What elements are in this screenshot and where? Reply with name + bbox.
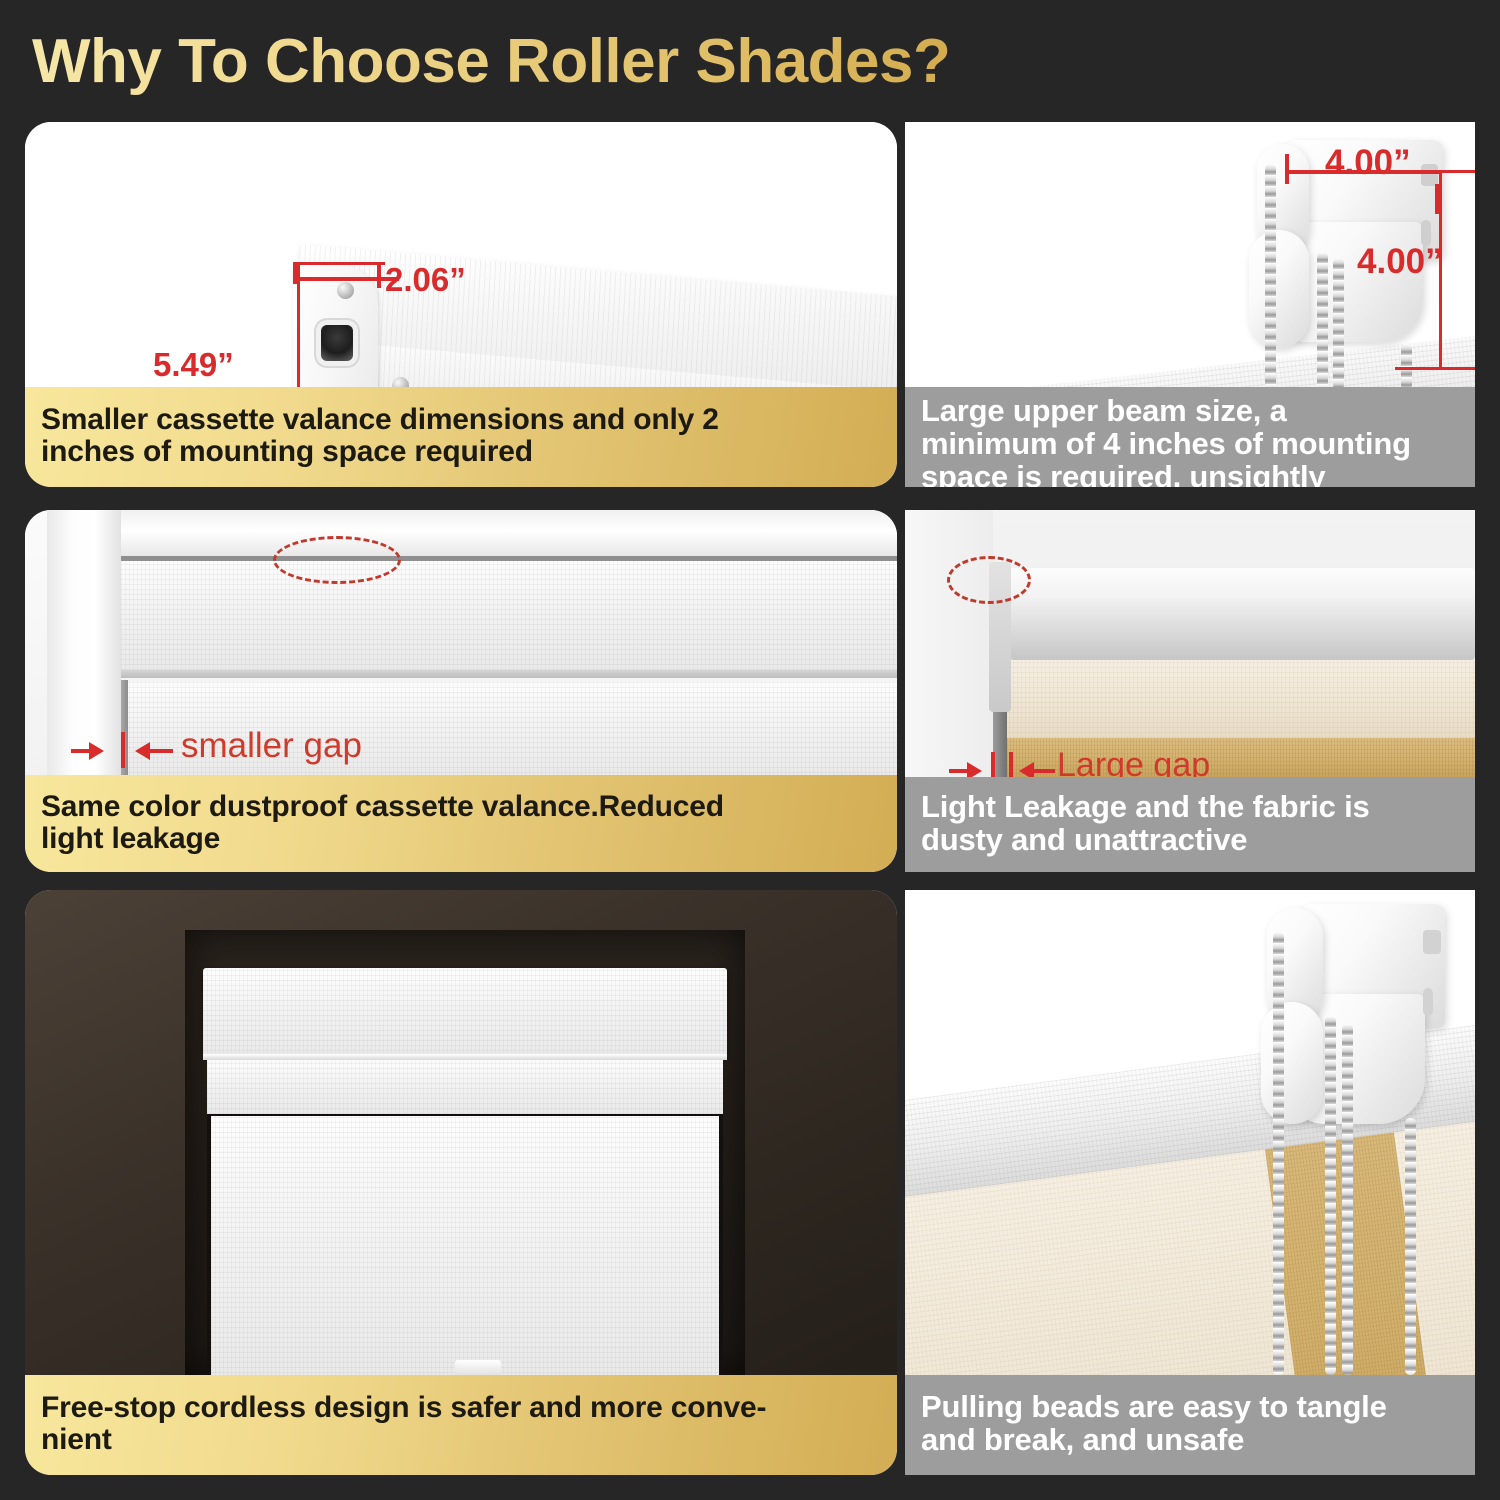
caption-con-large-gap: Light Leakage and the fabric is dusty an… bbox=[905, 777, 1475, 872]
dim-width-label: 4.00” bbox=[1325, 143, 1411, 183]
gap-label: Large gap bbox=[1057, 746, 1210, 778]
infographic-page: Why To Choose Roller Shades? 2.06” 5.49”… bbox=[0, 0, 1500, 1500]
gap-arrow-tail bbox=[71, 749, 95, 753]
window-wall bbox=[905, 510, 993, 778]
caption-text: Large upper beam size, a minimum of 4 in… bbox=[921, 395, 1411, 487]
dim-height-label: 5.49” bbox=[153, 346, 234, 384]
dim-height-tick-top bbox=[297, 262, 385, 265]
gap-label: smaller gap bbox=[181, 726, 362, 766]
gap-arrow-left-icon bbox=[135, 742, 150, 760]
window-frame-top bbox=[47, 510, 897, 556]
highlight-ellipse-icon bbox=[273, 536, 401, 584]
bracket-idler-end bbox=[1249, 230, 1309, 348]
highlight-ellipse-icon bbox=[947, 556, 1031, 604]
roller-tube bbox=[1005, 568, 1475, 660]
panel-con-large-gap: Large gap Light Leakage and the fabric i… bbox=[905, 510, 1475, 872]
screw-icon bbox=[337, 282, 354, 299]
photo-smaller-gap: smaller gap bbox=[25, 510, 897, 778]
gap-arrow-tail bbox=[949, 769, 971, 773]
panel-con-pulling-beads: Pulling beads are easy to tangle and bre… bbox=[905, 890, 1475, 1475]
bead-chain bbox=[1342, 1024, 1353, 1375]
panel-pro-cordless-design: Free-stop cordless design is safer and m… bbox=[25, 890, 897, 1475]
window-frame-left bbox=[47, 510, 121, 778]
bracket-slot-icon bbox=[1423, 930, 1441, 954]
bead-chain bbox=[1265, 164, 1276, 390]
caption-pro-cassette-dimensions: Smaller cassette valance dimensions and … bbox=[25, 387, 897, 487]
dim-height-line bbox=[297, 262, 300, 390]
dim-width-tick-left bbox=[1285, 154, 1289, 184]
gap-arrow-tail bbox=[149, 749, 173, 753]
bead-chain bbox=[1317, 252, 1328, 390]
photo-large-upper-beam: 4.00” 4.00” bbox=[905, 122, 1475, 390]
photo-pulling-beads bbox=[905, 890, 1475, 1375]
valance-edge bbox=[121, 670, 897, 678]
gap-tick bbox=[991, 752, 995, 778]
page-title: Why To Choose Roller Shades? bbox=[32, 22, 1132, 102]
caption-pro-cordless-design: Free-stop cordless design is safer and m… bbox=[25, 1375, 897, 1475]
gap-tick bbox=[121, 732, 125, 768]
dim-height-tick-top bbox=[1439, 170, 1475, 173]
panel-con-large-upper-beam: 4.00” 4.00” Large upper beam size, a min… bbox=[905, 122, 1475, 487]
caption-con-pulling-beads: Pulling beads are easy to tangle and bre… bbox=[905, 1375, 1475, 1475]
panel-pro-cassette-dimensions: 2.06” 5.49” Smaller cassette valance dim… bbox=[25, 122, 897, 487]
dim-width-line bbox=[293, 277, 399, 281]
bead-chain bbox=[1333, 258, 1344, 390]
bracket-idler-end bbox=[1261, 1002, 1323, 1124]
cassette-valance bbox=[203, 968, 727, 1056]
bracket-slot-icon bbox=[1421, 164, 1438, 186]
caption-text: Smaller cassette valance dimensions and … bbox=[41, 404, 719, 468]
shade-fabric-cream bbox=[1005, 660, 1475, 738]
shade-fabric bbox=[211, 1116, 719, 1375]
gap-tick bbox=[1009, 752, 1013, 778]
caption-text: Same color dustproof cassette valance.Re… bbox=[41, 791, 724, 855]
cassette-valance bbox=[121, 558, 897, 670]
caption-text: Pulling beads are easy to tangle and bre… bbox=[921, 1391, 1387, 1457]
pull-tab bbox=[455, 1360, 501, 1375]
photo-room-window bbox=[25, 890, 897, 1375]
photo-cassette-valance: 2.06” 5.49” bbox=[25, 122, 897, 390]
valance-slot bbox=[321, 325, 353, 361]
valance-lower bbox=[207, 1058, 723, 1114]
bead-chain bbox=[1273, 932, 1284, 1375]
dim-width-tick-right bbox=[377, 262, 381, 288]
valance-top-seam bbox=[121, 556, 897, 561]
gap-arrow-tail bbox=[1033, 769, 1055, 773]
bead-chain bbox=[1325, 1016, 1336, 1375]
dim-width-label: 2.06” bbox=[385, 261, 466, 299]
caption-text: Free-stop cordless design is safer and m… bbox=[41, 1392, 766, 1456]
bracket-slot-icon bbox=[1423, 988, 1433, 1016]
caption-text: Light Leakage and the fabric is dusty an… bbox=[921, 791, 1370, 857]
gap-arrow-left-icon bbox=[1019, 762, 1034, 778]
dim-height-tick-bottom bbox=[1395, 367, 1475, 370]
caption-con-large-upper-beam: Large upper beam size, a minimum of 4 in… bbox=[905, 387, 1475, 487]
photo-large-gap: Large gap bbox=[905, 510, 1475, 778]
valance-seam bbox=[203, 1054, 727, 1060]
panel-pro-smaller-gap: smaller gap Same color dustproof cassett… bbox=[25, 510, 897, 872]
caption-pro-smaller-gap: Same color dustproof cassette valance.Re… bbox=[25, 775, 897, 872]
dim-height-label: 4.00” bbox=[1357, 242, 1443, 282]
bead-chain bbox=[1405, 1118, 1416, 1375]
